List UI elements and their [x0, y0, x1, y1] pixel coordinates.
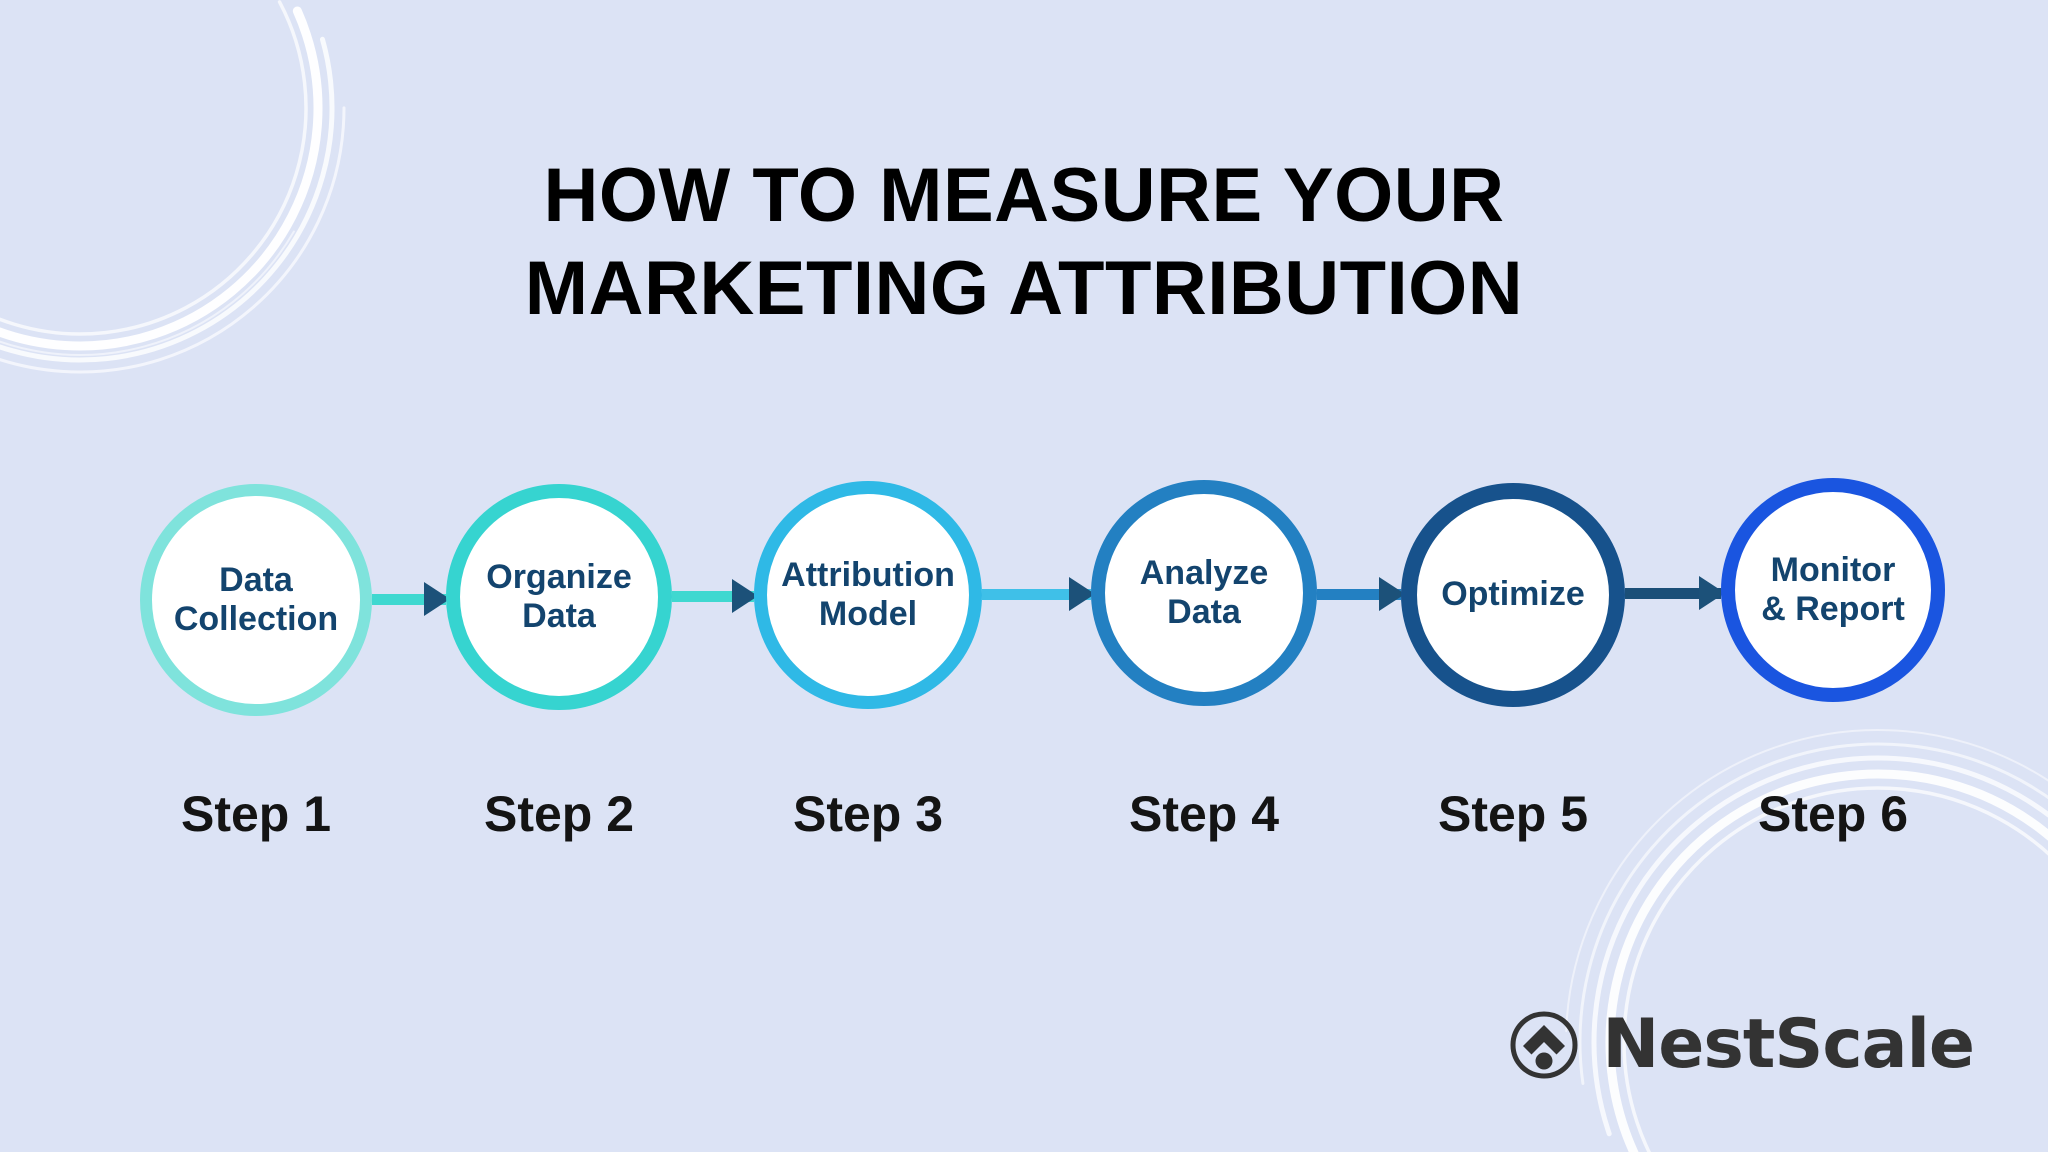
flow-step-node-1-label: Data Collection	[168, 561, 344, 640]
flow-step-node-4[interactable]: Analyze Data	[1091, 480, 1317, 706]
flow-connector-4-to-5	[1317, 589, 1401, 600]
nestscale-logo-icon	[1508, 1009, 1580, 1081]
brand-name: NestScale	[1602, 1005, 1974, 1084]
flow-connector-2-to-3	[672, 591, 754, 602]
step-caption-4: Step 4	[1129, 785, 1279, 843]
flow-step-node-3[interactable]: Attribution Model	[754, 481, 982, 709]
flow-step-node-2-label: Organize Data	[480, 558, 637, 637]
flow-connector-3-to-4	[982, 589, 1091, 600]
flow-step-node-3-label: Attribution Model	[775, 556, 961, 635]
step-caption-3: Step 3	[793, 785, 943, 843]
flow-step-node-6-label: Monitor & Report	[1755, 551, 1911, 630]
process-flow-diagram: Data CollectionOrganize DataAttribution …	[0, 0, 2048, 300]
flow-step-node-2[interactable]: Organize Data	[446, 484, 672, 710]
step-caption-1: Step 1	[181, 785, 331, 843]
step-caption-6: Step 6	[1758, 785, 1908, 843]
step-caption-5: Step 5	[1438, 785, 1588, 843]
flow-step-node-5[interactable]: Optimize	[1401, 483, 1625, 707]
flow-step-node-4-label: Analyze Data	[1134, 554, 1275, 633]
flow-step-node-1[interactable]: Data Collection	[140, 484, 372, 716]
flow-connector-5-to-6	[1625, 588, 1721, 599]
flow-step-node-6[interactable]: Monitor & Report	[1721, 478, 1945, 702]
brand-logo: NestScale	[1508, 1005, 1974, 1084]
flow-connector-1-to-2	[372, 594, 446, 605]
flow-step-node-5-label: Optimize	[1435, 575, 1591, 614]
step-caption-row: Step 1Step 2Step 3Step 4Step 5Step 6	[0, 785, 2048, 855]
step-caption-2: Step 2	[484, 785, 634, 843]
